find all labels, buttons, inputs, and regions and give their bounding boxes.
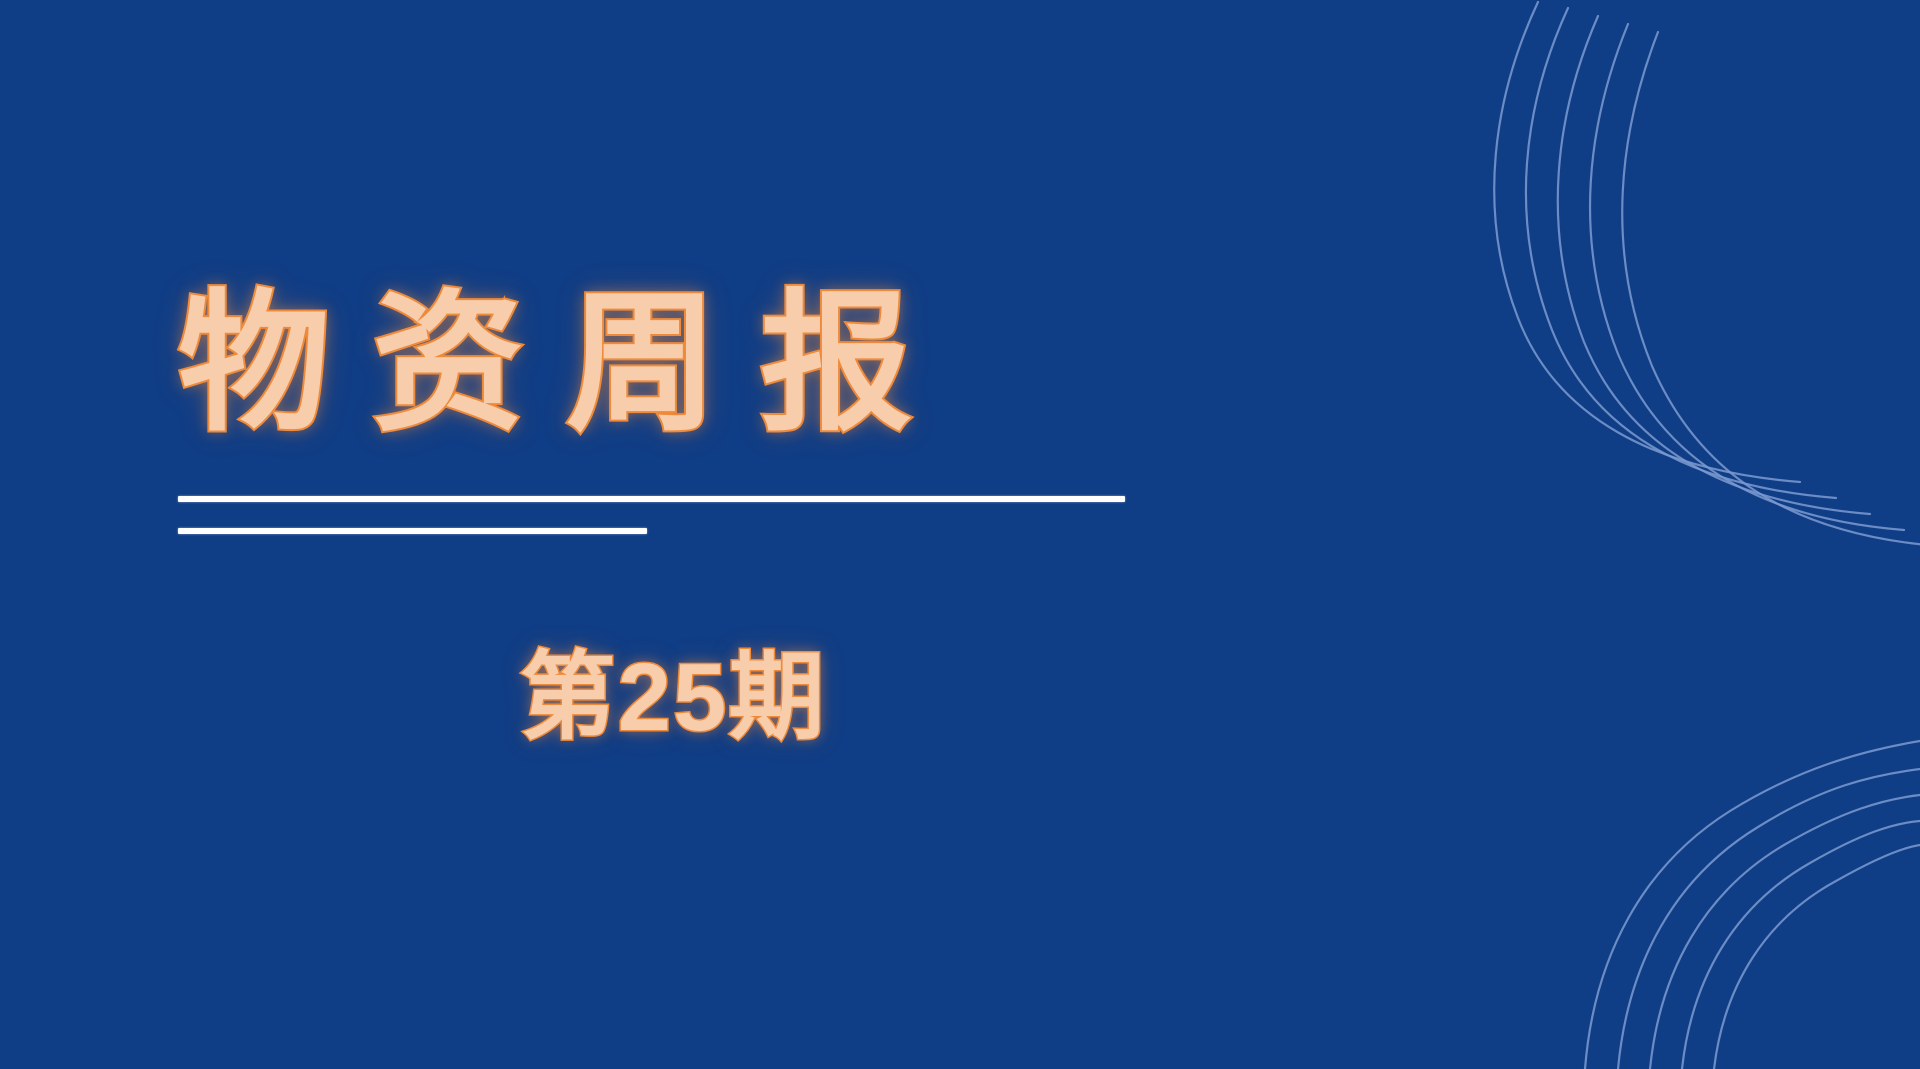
issue-number: 第25期 <box>520 648 827 749</box>
wave-lines-decoration-top-right <box>1280 0 1920 560</box>
page-title: 物资周报 <box>178 288 1178 440</box>
arc-lines-decoration-bottom-right <box>1260 599 1920 1069</box>
divider-group <box>178 496 1125 534</box>
title-block: 物资周报 <box>178 288 1178 440</box>
subtitle-block: 第25期 <box>178 648 1168 749</box>
divider-line-long <box>178 496 1125 502</box>
title-slide: 物资周报 第25期 <box>0 0 1920 1069</box>
divider-line-short <box>178 528 647 534</box>
